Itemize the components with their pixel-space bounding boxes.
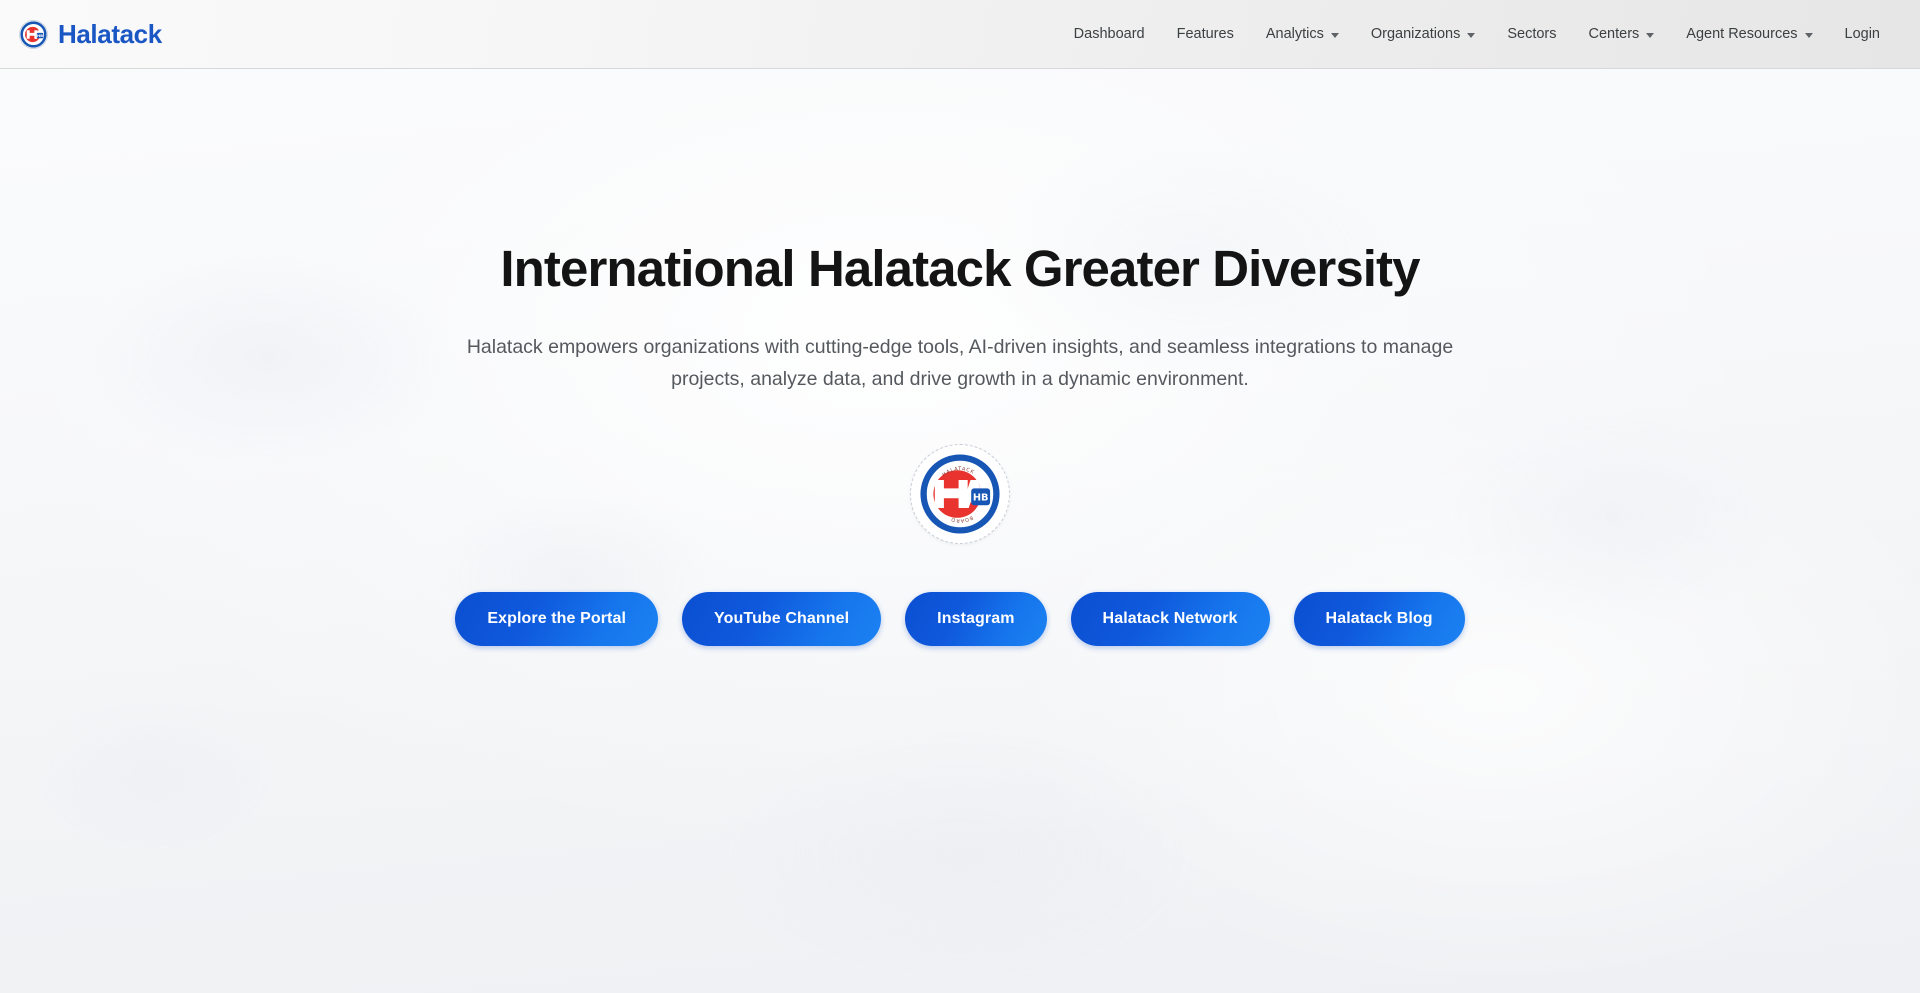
svg-text:HB: HB (37, 33, 43, 38)
nav-item-centers[interactable]: Centers (1573, 18, 1671, 50)
nav-label: Sectors (1507, 26, 1556, 42)
page-root: HB Halatack Dashboard Features Analytics… (0, 0, 1920, 993)
brand-name: Halatack (58, 21, 162, 47)
nav-label: Analytics (1266, 26, 1324, 42)
explore-the-portal-button[interactable]: Explore the Portal (455, 592, 658, 646)
cta-button-row: Explore the Portal YouTube Channel Insta… (455, 592, 1464, 646)
nav-item-agent-resources[interactable]: Agent Resources (1670, 18, 1828, 50)
emblem-container: HB HALATACK BOARD (910, 444, 1010, 544)
nav-item-organizations[interactable]: Organizations (1355, 18, 1491, 50)
nav-item-features[interactable]: Features (1161, 18, 1250, 50)
halatack-roundel-emblem: HB HALATACK BOARD (918, 452, 1002, 536)
svg-text:HB: HB (973, 493, 989, 504)
nav-label: Organizations (1371, 26, 1460, 42)
site-header: HB Halatack Dashboard Features Analytics… (0, 0, 1920, 69)
nav-label: Dashboard (1074, 26, 1145, 42)
brand-logo-link[interactable]: HB Halatack (20, 21, 162, 48)
chevron-down-icon (1646, 33, 1654, 38)
halatack-network-button[interactable]: Halatack Network (1071, 592, 1270, 646)
youtube-channel-button[interactable]: YouTube Channel (682, 592, 881, 646)
instagram-button[interactable]: Instagram (905, 592, 1046, 646)
nav-item-analytics[interactable]: Analytics (1250, 18, 1355, 50)
page-title: International Halatack Greater Diversity (500, 240, 1419, 297)
hero-section: International Halatack Greater Diversity… (0, 69, 1920, 646)
nav-item-login[interactable]: Login (1829, 18, 1896, 50)
nav-item-sectors[interactable]: Sectors (1491, 18, 1572, 50)
halatack-roundel-icon: HB (20, 21, 47, 48)
primary-navigation: Dashboard Features Analytics Organizatio… (1058, 18, 1896, 50)
chevron-down-icon (1331, 33, 1339, 38)
nav-label: Centers (1589, 26, 1640, 42)
halatack-blog-button[interactable]: Halatack Blog (1294, 592, 1465, 646)
chevron-down-icon (1805, 33, 1813, 38)
chevron-down-icon (1467, 33, 1475, 38)
nav-label: Features (1177, 26, 1234, 42)
nav-item-dashboard[interactable]: Dashboard (1058, 18, 1161, 50)
nav-label: Login (1845, 26, 1880, 42)
nav-label: Agent Resources (1686, 26, 1797, 42)
hero-subtitle: Halatack empowers organizations with cut… (465, 332, 1455, 395)
